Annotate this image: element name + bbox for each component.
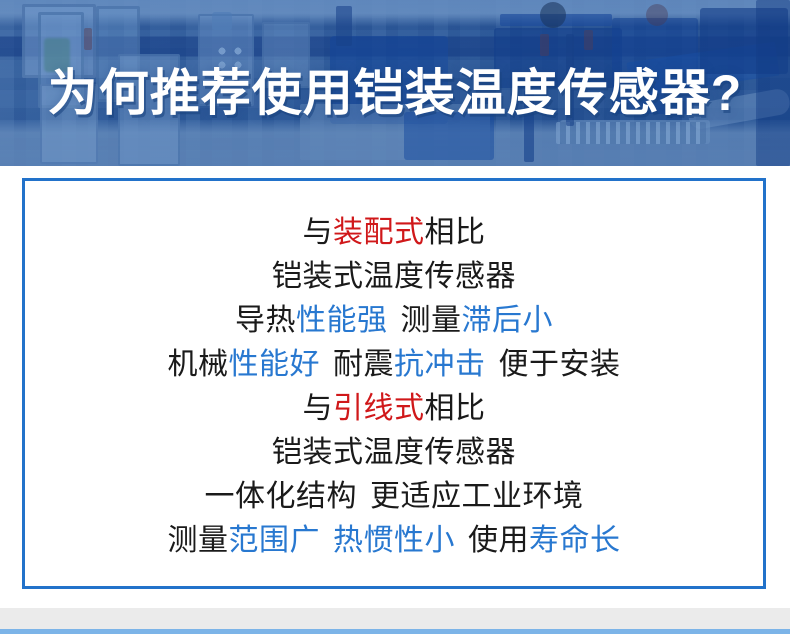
feature-text-black: 测量 <box>168 524 229 557</box>
feature-line: 导热性能强测量滞后小 <box>25 299 763 343</box>
feature-text-red: 引线式 <box>333 392 425 425</box>
hero-banner: 为何推荐使用铠装温度传感器? <box>0 0 790 166</box>
feature-line: 测量范围广热惯性小使用寿命长 <box>25 519 763 563</box>
feature-text-black: 机械 <box>168 348 229 381</box>
feature-text-black: 测量 <box>401 304 462 337</box>
feature-line: 铠装式温度传感器 <box>25 255 763 299</box>
feature-line: 与引线式相比 <box>25 387 763 431</box>
feature-text-blue: 范围广 <box>229 524 321 557</box>
page-title: 为何推荐使用铠装温度传感器? <box>0 68 790 118</box>
feature-line: 与装配式相比 <box>25 211 763 255</box>
feature-text-black: 一体化结构 <box>205 480 358 513</box>
feature-text-black: 便于安装 <box>499 348 621 381</box>
feature-line: 机械性能好耐震抗冲击便于安装 <box>25 343 763 387</box>
feature-text-black: 铠装式温度传感器 <box>272 436 516 469</box>
feature-text-black: 铠装式温度传感器 <box>272 260 516 293</box>
feature-text-black: 与 <box>303 216 334 249</box>
feature-comparison-card: 与装配式相比铠装式温度传感器导热性能强测量滞后小机械性能好耐震抗冲击便于安装与引… <box>22 178 766 589</box>
footer-grey-band <box>0 608 790 629</box>
feature-text-blue: 滞后小 <box>462 304 554 337</box>
feature-text-black: 相比 <box>425 392 486 425</box>
feature-text-blue: 寿命长 <box>529 524 621 557</box>
feature-text-black: 耐震 <box>333 348 394 381</box>
feature-line-list: 与装配式相比铠装式温度传感器导热性能强测量滞后小机械性能好耐震抗冲击便于安装与引… <box>25 211 763 563</box>
feature-text-black: 导热 <box>235 304 296 337</box>
feature-text-blue: 性能好 <box>229 348 321 381</box>
feature-line: 铠装式温度传感器 <box>25 431 763 475</box>
feature-text-black: 更适应工业环境 <box>370 480 584 513</box>
feature-text-black: 与 <box>303 392 334 425</box>
footer-blue-band <box>0 629 790 634</box>
feature-text-blue: 性能强 <box>296 304 388 337</box>
feature-text-red: 装配式 <box>333 216 425 249</box>
feature-text-blue: 热惯性小 <box>333 524 455 557</box>
feature-line: 一体化结构更适应工业环境 <box>25 475 763 519</box>
feature-text-black: 相比 <box>425 216 486 249</box>
promo-page: 为何推荐使用铠装温度传感器? 与装配式相比铠装式温度传感器导热性能强测量滞后小机… <box>0 0 790 634</box>
feature-text-black: 使用 <box>468 524 529 557</box>
feature-text-blue: 抗冲击 <box>394 348 486 381</box>
footer-white-gap <box>0 589 790 608</box>
